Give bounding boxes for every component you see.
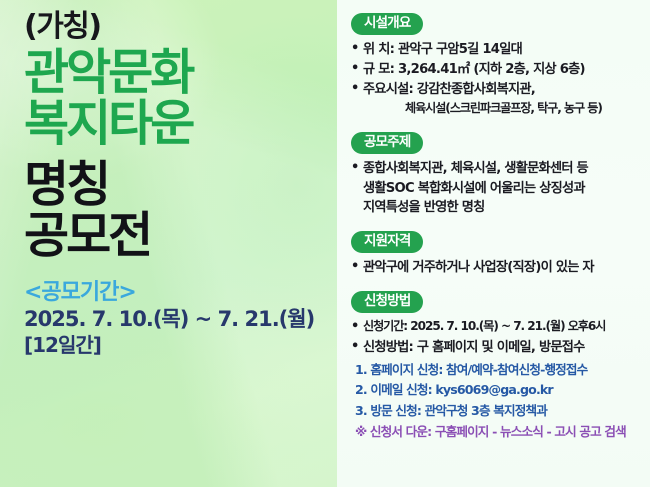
- spacer: [351, 281, 642, 290]
- bullet-dot-icon: •: [351, 258, 363, 277]
- title-black-line-2: 공모전: [24, 211, 337, 262]
- application-steps-list: 1. 홈페이지 신청: 참여/예약-참여신청-행정접수 2. 이메일 신청: k…: [351, 360, 642, 443]
- bullet-location-text: 위 치: 관악구 구암5길 14일대: [363, 40, 642, 59]
- bullet-theme-text: 종합사회복지관, 체육시설, 생활문화센터 등: [363, 159, 642, 178]
- section-facility-overview: 시설개요 • 위 치: 관악구 구암5길 14일대 • 규 모: 3,264.4…: [351, 12, 642, 118]
- bullet-scale-text: 규 모: 3,264.41㎡ (지하 2층, 지상 6층): [363, 60, 642, 79]
- title-black-line-1: 명칭: [24, 160, 337, 211]
- application-form-download-note: ※ 신청서 다운: 구홈페이지 - 뉴스소식 - 고시 공고 검색: [355, 422, 642, 442]
- bullet-dot-icon: •: [351, 338, 363, 357]
- bullet-dot-icon: •: [351, 80, 363, 99]
- title-green-block: 관악문화 복지타운: [24, 48, 337, 150]
- bullet-scale: • 규 모: 3,264.41㎡ (지하 2층, 지상 6층): [351, 60, 642, 79]
- bullet-theme: • 종합사회복지관, 체육시설, 생활문화센터 등: [351, 159, 642, 178]
- application-step-email[interactable]: 2. 이메일 신청: kys6069@ga.go.kr: [355, 380, 642, 400]
- bullet-theme-line-2: 생활SOC 복합화시설에 어울리는 상징성과: [363, 179, 642, 198]
- poster-root: (가칭) 관악문화 복지타운 명칭 공모전 <공모기간> 2025. 7. 10…: [0, 0, 650, 487]
- application-step-visit: 3. 방문 신청: 관악구청 3층 복지정책과: [355, 401, 642, 421]
- section-application-method: 신청방법 • 신청기간: 2025. 7. 10.(목) ~ 7. 21.(월)…: [351, 290, 642, 442]
- period-duration: [12일간]: [24, 333, 337, 357]
- bullet-dot-icon: •: [351, 159, 363, 178]
- facility-overview-bullets: • 위 치: 관악구 구암5길 14일대 • 규 모: 3,264.41㎡ (지…: [351, 40, 642, 118]
- bullet-application-channels: • 신청방법: 구 홈페이지 및 이메일, 방문접수: [351, 338, 642, 357]
- right-info-panel: 시설개요 • 위 치: 관악구 구암5길 14일대 • 규 모: 3,264.4…: [337, 0, 650, 487]
- bullet-application-period-text: 신청기간: 2025. 7. 10.(목) ~ 7. 21.(월) 오후6시: [363, 318, 642, 336]
- contest-theme-bullets: • 종합사회복지관, 체육시설, 생활문화센터 등 생활SOC 복합화시설에 어…: [351, 159, 642, 217]
- badge-eligibility: 지원자격: [351, 231, 423, 253]
- application-method-bullets: • 신청기간: 2025. 7. 10.(목) ~ 7. 21.(월) 오후6시…: [351, 318, 642, 357]
- bullet-application-channels-text: 신청방법: 구 홈페이지 및 이메일, 방문접수: [363, 338, 642, 357]
- bullet-dot-icon: •: [351, 60, 363, 79]
- bullet-dot-icon: •: [351, 40, 363, 59]
- badge-facility-overview: 시설개요: [351, 13, 423, 35]
- bullet-location: • 위 치: 관악구 구암5길 14일대: [351, 40, 642, 59]
- title-black-block: 명칭 공모전: [24, 160, 337, 262]
- period-label: <공모기간>: [24, 280, 337, 305]
- bullet-eligibility-text: 관악구에 거주하거나 사업장(직장)이 있는 자: [363, 258, 642, 277]
- bullet-dot-icon: •: [351, 318, 363, 337]
- bullet-main-facilities: • 주요시설: 강감찬종합사회복지관,: [351, 80, 642, 99]
- bullet-application-period: • 신청기간: 2025. 7. 10.(목) ~ 7. 21.(월) 오후6시: [351, 318, 642, 337]
- left-content: (가칭) 관악문화 복지타운 명칭 공모전 <공모기간> 2025. 7. 10…: [0, 0, 337, 487]
- bullet-eligibility: • 관악구에 거주하거나 사업장(직장)이 있는 자: [351, 258, 642, 277]
- period-dates: 2025. 7. 10.(목) ~ 7. 21.(월): [24, 307, 337, 332]
- title-prefix: (가칭): [24, 12, 337, 42]
- bullet-main-facilities-continuation: 체육시설(스크린파크골프장, 탁구, 농구 등): [363, 100, 642, 118]
- application-step-website: 1. 홈페이지 신청: 참여/예약-참여신청-행정접수: [355, 360, 642, 380]
- badge-application-method: 신청방법: [351, 291, 423, 313]
- spacer: [351, 221, 642, 230]
- eligibility-bullets: • 관악구에 거주하거나 사업장(직장)이 있는 자: [351, 258, 642, 277]
- section-eligibility: 지원자격 • 관악구에 거주하거나 사업장(직장)이 있는 자: [351, 230, 642, 277]
- spacer: [351, 122, 642, 131]
- badge-contest-theme: 공모주제: [351, 132, 423, 154]
- section-contest-theme: 공모주제 • 종합사회복지관, 체육시설, 생활문화센터 등 생활SOC 복합화…: [351, 131, 642, 217]
- left-title-panel: (가칭) 관악문화 복지타운 명칭 공모전 <공모기간> 2025. 7. 10…: [0, 0, 337, 487]
- bullet-main-facilities-text: 주요시설: 강감찬종합사회복지관,: [363, 80, 642, 99]
- bullet-theme-line-3: 지역특성을 반영한 명칭: [363, 198, 642, 217]
- submission-period-block: <공모기간> 2025. 7. 10.(목) ~ 7. 21.(월) [12일간…: [24, 280, 337, 357]
- title-green-line-2: 복지타운: [24, 99, 337, 150]
- title-green-line-1: 관악문화: [24, 48, 337, 99]
